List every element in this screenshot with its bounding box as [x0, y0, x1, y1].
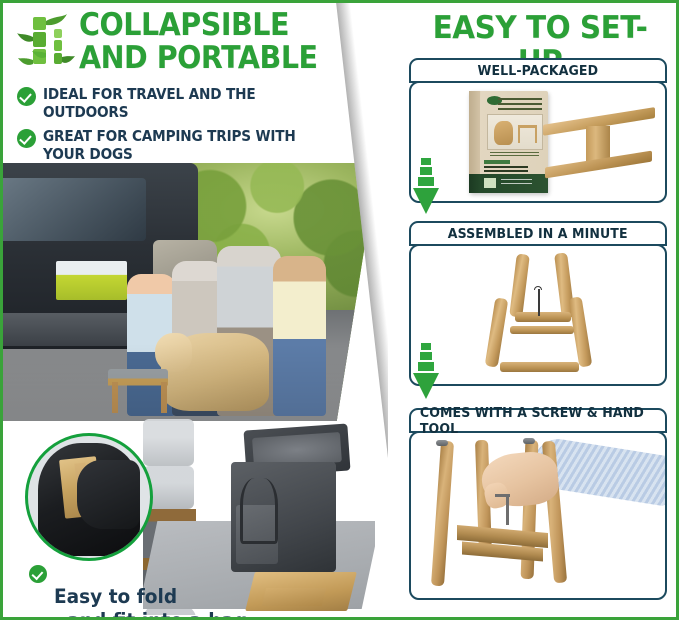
folded-stand-photo	[411, 246, 665, 384]
box-footer	[469, 174, 548, 192]
assembled-bamboo-stand	[543, 116, 655, 170]
box-title-text	[498, 98, 542, 109]
bullet-text: GREAT FOR CAMPING TRIPS WITH YOUR DOGS	[43, 127, 296, 163]
list-item: IDEAL FOR TRAVEL AND THE OUTDOORS	[17, 85, 377, 121]
step-label-box: WELL-PACKAGED	[409, 58, 667, 83]
list-item: GREAT FOR CAMPING TRIPS WITH YOUR DOGS	[17, 127, 377, 163]
screw-pin	[538, 289, 540, 317]
step-assembled-in-a-minute: ASSEMBLED IN A MINUTE	[409, 221, 667, 386]
screw-head-icon	[436, 440, 448, 446]
bullet-text: IDEAL FOR TRAVEL AND THE OUTDOORS	[43, 85, 337, 121]
box-product-image	[487, 114, 544, 151]
headline-line-1: COLLAPSIBLE	[79, 9, 355, 42]
family-with-dog-photo	[3, 163, 378, 421]
product-box	[469, 91, 548, 192]
step-image-hand-tool	[409, 431, 667, 600]
fold-caption-text: Easy to fold and fit into a bag	[54, 561, 247, 617]
box-footer-badge	[484, 178, 497, 187]
bamboo-stalks-icon	[17, 13, 75, 75]
step-well-packaged: WELL-PACKAGED	[409, 58, 667, 203]
right-panel: EASY TO SET-UP WELL-PACKAGED	[391, 3, 679, 617]
allen-key-shaft	[506, 496, 509, 526]
step-label-text: ASSEMBLED IN A MINUTE	[448, 226, 628, 242]
check-circle-icon	[17, 87, 36, 106]
box-dog-illustration	[494, 121, 513, 145]
stand-leg	[431, 441, 454, 587]
stand-cross-rail	[515, 312, 571, 322]
left-panel: COLLAPSIBLE AND PORTABLE IDEAL FOR TRAVE…	[3, 3, 388, 617]
check-circle-icon	[29, 565, 47, 583]
stand-bottom-rail	[500, 362, 579, 372]
step-label-text: COMES WITH A SCREW & HAND TOOL	[420, 405, 656, 437]
step-label-text: WELL-PACKAGED	[478, 63, 599, 79]
fold-caption-line-1: Easy to fold	[54, 585, 177, 608]
down-arrow-icon	[411, 158, 441, 216]
down-arrow-icon	[411, 343, 441, 401]
backpack-with-stand-photo	[25, 433, 153, 561]
step-image-well-packaged	[409, 81, 667, 203]
box-stand-illustration	[518, 125, 537, 143]
stand-cross-rail	[510, 326, 574, 334]
box-footer-text	[501, 179, 532, 187]
food-container	[143, 419, 194, 466]
fold-caption-line-2: and fit into a bag	[54, 609, 247, 617]
step-label-box: COMES WITH A SCREW & HAND TOOL	[409, 408, 667, 433]
screw-head-icon	[534, 286, 542, 290]
stand-leg	[509, 254, 529, 319]
step-label-box: ASSEMBLED IN A MINUTE	[409, 221, 667, 246]
photo-vignette	[3, 163, 378, 421]
hand-with-allen-tool-photo	[411, 433, 665, 598]
stand-leg	[484, 298, 507, 368]
fold-caption: Easy to fold and fit into a bag	[29, 561, 257, 617]
feature-bullet-list: IDEAL FOR TRAVEL AND THE OUTDOORS GREAT …	[17, 85, 377, 169]
folded-bamboo-stand-part	[261, 588, 326, 606]
screw-head-icon	[523, 438, 535, 444]
step-screw-and-hand-tool: COMES WITH A SCREW & HAND TOOL	[409, 408, 667, 600]
box-green-bar	[484, 160, 511, 164]
product-infographic: COLLAPSIBLE AND PORTABLE IDEAL FOR TRAVE…	[0, 0, 679, 620]
headline-line-2: AND PORTABLE	[79, 42, 355, 75]
check-circle-icon	[17, 129, 36, 148]
page-title: COLLAPSIBLE AND PORTABLE	[79, 9, 379, 75]
stand-center-post	[586, 126, 611, 162]
bag-handle	[240, 478, 277, 545]
box-subtitle-text	[490, 152, 539, 156]
step-image-assembled	[409, 244, 667, 386]
backpack-flap	[77, 460, 140, 528]
